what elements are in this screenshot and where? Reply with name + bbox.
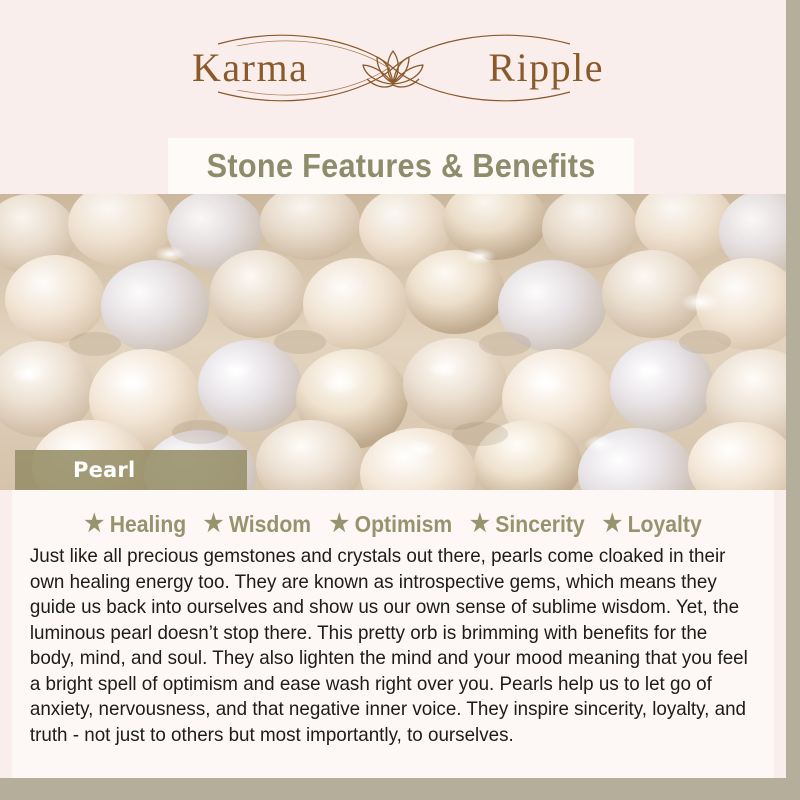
brand-word-ripple: Ripple	[482, 46, 610, 90]
star-icon: ★	[203, 512, 223, 536]
benefit-item-loyalty: ★ Loyalty	[602, 511, 701, 538]
benefit-item-wisdom: ★ Wisdom	[203, 511, 310, 538]
star-icon: ★	[329, 512, 349, 536]
star-icon: ★	[85, 512, 105, 536]
star-icon: ★	[602, 512, 622, 536]
benefit-label: Sincerity	[495, 511, 584, 538]
benefit-label: Loyalty	[627, 511, 701, 538]
benefit-label: Optimism	[354, 511, 452, 538]
benefit-item-sincerity: ★ Sincerity	[470, 511, 585, 538]
description-panel: ★ Healing ★ Wisdom ★ Optimism ★ Sincerit…	[12, 490, 774, 778]
benefit-item-optimism: ★ Optimism	[329, 511, 452, 538]
page-root: Karma Ripple Stone Features & Benefits	[0, 0, 800, 800]
star-icon: ★	[470, 512, 490, 536]
benefit-item-healing: ★ Healing	[85, 511, 187, 538]
description-paragraph: Just like all precious gemstones and cry…	[26, 544, 756, 748]
pearl-photo-image	[0, 194, 786, 490]
page-title: Stone Features & Benefits	[206, 147, 595, 185]
benefits-list: ★ Healing ★ Wisdom ★ Optimism ★ Sincerit…	[26, 506, 760, 542]
brand-word-karma: Karma	[186, 46, 314, 90]
stone-name-label: Pearl	[73, 458, 135, 482]
benefit-label: Wisdom	[229, 511, 311, 538]
stone-name-bar: Pearl	[15, 450, 247, 490]
section-title-banner: Stone Features & Benefits	[168, 138, 634, 194]
brand-header: Karma Ripple	[0, 0, 786, 138]
pearl-photo	[0, 194, 786, 490]
lotus-icon	[357, 43, 429, 93]
benefit-label: Healing	[110, 511, 186, 538]
logo-lockup: Karma Ripple	[158, 28, 628, 108]
